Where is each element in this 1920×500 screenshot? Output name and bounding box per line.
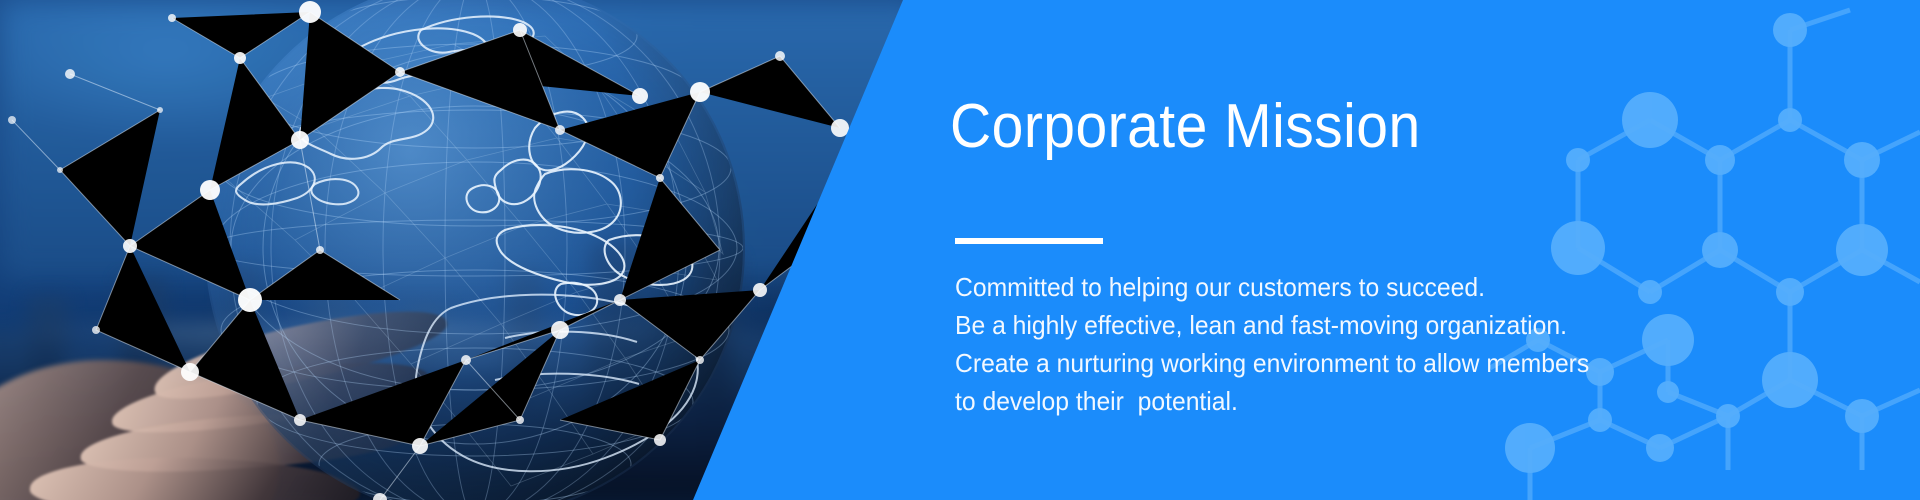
corporate-mission-banner: Corporate Mission Committed to helping o… [0, 0, 1920, 500]
mission-line-4: to develop their potential. [955, 382, 1589, 420]
mission-line-1: Committed to helping our customers to su… [955, 268, 1589, 306]
mission-statement: Committed to helping our customers to su… [955, 268, 1589, 420]
mission-line-3: Create a nurturing working environment t… [955, 344, 1589, 382]
mission-content: Corporate Mission Committed to helping o… [950, 0, 1850, 500]
hero-photo [0, 0, 920, 500]
mission-line-2: Be a highly effective, lean and fast-mov… [955, 306, 1589, 344]
title-divider [955, 238, 1103, 244]
page-title: Corporate Mission [950, 96, 1421, 158]
